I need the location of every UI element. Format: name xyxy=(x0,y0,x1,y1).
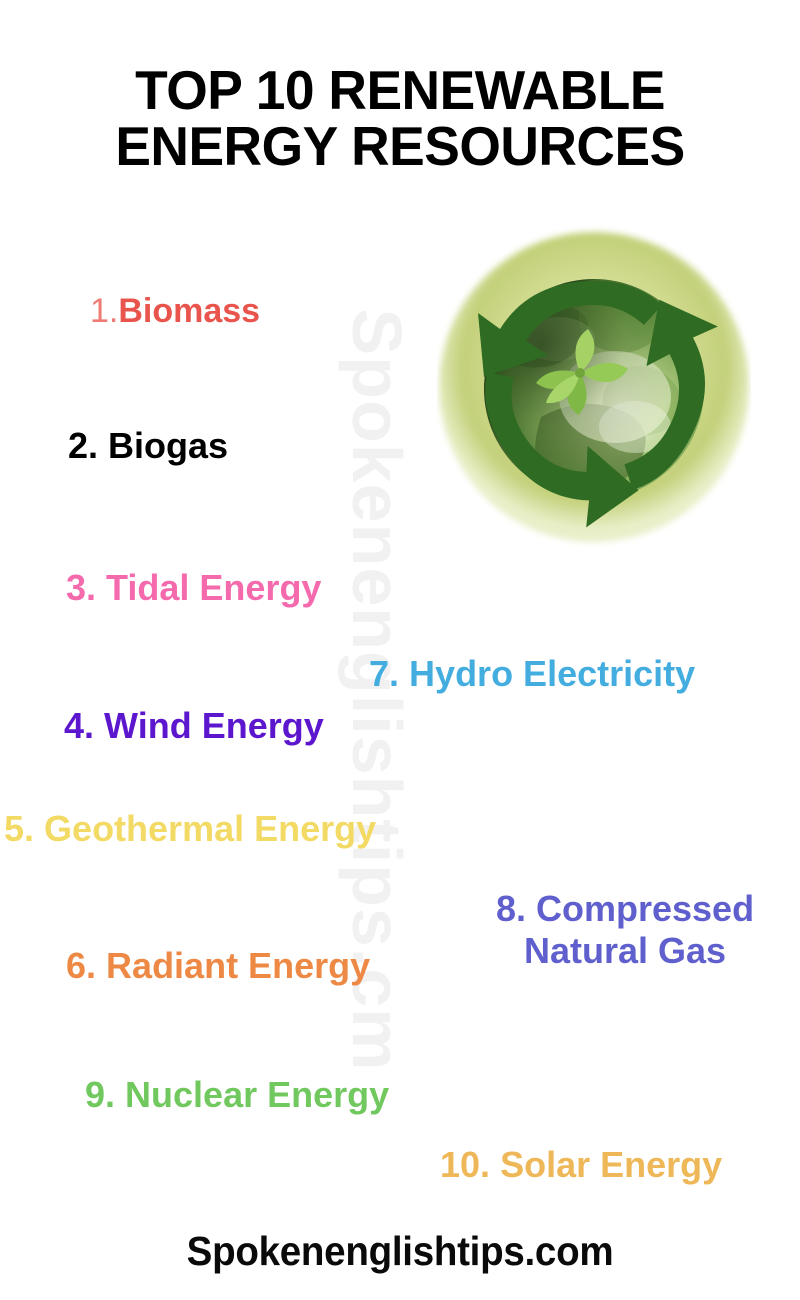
list-item-3-number: 3. xyxy=(66,567,96,608)
list-item-6-radiant-energy: 6. Radiant Energy xyxy=(66,945,370,987)
list-item-6-number: 6. xyxy=(66,945,96,986)
list-item-2-number: 2. xyxy=(68,425,98,466)
list-item-2-biogas: 2. Biogas xyxy=(68,425,228,467)
green-globe-recycling-icon xyxy=(437,221,751,553)
list-item-9-label: Nuclear Energy xyxy=(125,1074,389,1115)
list-item-7-number: 7. xyxy=(369,653,399,694)
list-item-5-geothermal-energy: 5. Geothermal Energy xyxy=(4,808,376,850)
list-item-3-tidal-energy: 3. Tidal Energy xyxy=(66,567,321,609)
list-item-9-number: 9. xyxy=(85,1074,115,1115)
list-item-5-number: 5. xyxy=(4,808,34,849)
list-item-7-hydro-electricity: 7. Hydro Electricity xyxy=(369,653,695,695)
infographic-poster: TOP 10 RENEWABLE ENERGY RESOURCES Spoken… xyxy=(0,0,800,1300)
list-item-10-number: 10. xyxy=(440,1144,490,1185)
list-item-5-label: Geothermal Energy xyxy=(44,808,376,849)
footer-site-name: Spokenenglishtips.com xyxy=(24,1228,776,1275)
list-item-1-number: 1. xyxy=(90,292,118,330)
list-item-6-label: Radiant Energy xyxy=(106,945,370,986)
list-item-4-label: Wind Energy xyxy=(104,705,324,746)
page-title-line-2: ENERGY RESOURCES xyxy=(12,118,788,174)
list-item-1-biomass: 1.Biomass xyxy=(90,292,260,331)
list-item-7-label: Hydro Electricity xyxy=(409,653,695,694)
list-item-8-number: 8. xyxy=(496,888,526,929)
list-item-9-nuclear-energy: 9. Nuclear Energy xyxy=(85,1074,389,1116)
list-item-4-number: 4. xyxy=(64,705,94,746)
list-item-10-label: Solar Energy xyxy=(500,1144,722,1185)
page-title: TOP 10 RENEWABLE ENERGY RESOURCES xyxy=(12,62,788,174)
list-item-2-label: Biogas xyxy=(108,425,228,466)
list-item-4-wind-energy: 4. Wind Energy xyxy=(64,705,324,747)
list-item-8-label-line-1: Compressed xyxy=(536,888,754,929)
page-title-line-1: TOP 10 RENEWABLE xyxy=(12,62,788,118)
list-item-8-label-line-2: Natural Gas xyxy=(524,930,726,971)
list-item-8-compressed-natural-gas: 8. CompressedNatural Gas xyxy=(465,888,785,972)
list-item-1-label: Biomass xyxy=(118,292,260,330)
list-item-10-solar-energy: 10. Solar Energy xyxy=(440,1144,722,1186)
list-item-3-label: Tidal Energy xyxy=(106,567,321,608)
